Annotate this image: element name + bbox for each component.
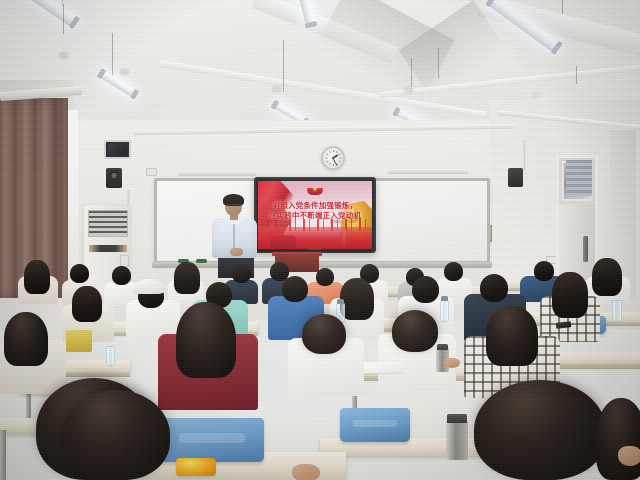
slide-title-line1: 对照入党条件加强锻炼， [266,201,364,211]
lamp-wire [562,0,563,14]
student-hand [618,446,640,466]
lamp-wire [63,4,64,34]
student-hair [174,262,200,294]
lamp-wire [283,40,284,92]
wall-speaker-left [106,168,122,188]
lamp-mount [532,92,541,98]
student-hair [552,272,588,318]
water-bottle[interactable] [612,300,622,322]
student-hand [444,358,460,368]
student-head [70,264,89,283]
tower-graphic [342,229,346,247]
student-hair [486,306,538,366]
monitor-screen [108,144,127,155]
student-hair [24,260,50,294]
clock-center-pin [332,157,334,159]
conduit-pipe [523,140,526,170]
lamp-mount [59,52,68,58]
wall-speaker-right [508,168,523,187]
lamp-wire [438,48,439,78]
lamp-wire [112,33,113,75]
speaker-grille-icon [109,170,119,186]
bottle-cap [337,299,344,304]
notebook-paper[interactable] [364,361,402,373]
student-head [232,264,251,283]
student-head [316,268,334,286]
presenter-hands [230,248,243,256]
student-hair [340,278,374,320]
presenter [206,196,264,276]
student-head [444,262,463,281]
student-head [412,276,439,303]
lamp-mount [272,85,281,91]
lamp-wire [576,66,577,84]
ac-vent-grille [88,210,128,237]
whiteboard-lamp [178,171,256,176]
door-handle[interactable] [583,236,588,262]
presentation-display[interactable]: 对照入党条件加强锻炼， 在实践中不断端正入党动机 主讲人 时间地点 HUAWEI [254,177,376,253]
student-head [302,314,346,354]
student-head [534,261,554,281]
lamp-mount [404,86,413,92]
student-head [62,390,170,480]
wall-outlet[interactable] [146,168,157,176]
student-hair [4,312,48,366]
student-hair [596,398,640,480]
snack-bag[interactable] [176,458,216,476]
cpc-party-emblem-icon [307,186,323,196]
student-hair [592,258,622,296]
student-hand [292,464,320,480]
ac-brand-strip [89,245,127,252]
door-transom-window [566,160,592,196]
cap-brim [132,290,154,294]
water-bottle[interactable] [106,346,115,366]
water-bottle[interactable] [440,300,449,322]
desk-leg [0,430,6,480]
chair[interactable] [340,408,410,442]
wall-clock [321,146,345,170]
slide-title: 对照入党条件加强锻炼， 在实践中不断端正入党动机 [266,201,364,221]
student-hair [72,286,102,322]
thermos-lid [447,414,467,423]
student-head [112,266,131,285]
thermos-lid [437,344,448,350]
glasses-icon [226,204,241,208]
whiteboard-lamp [388,169,468,174]
yellow-tote-bag[interactable] [66,330,92,352]
wall-control-monitor[interactable] [104,140,131,159]
student-head [474,380,606,480]
student-head [480,274,508,302]
classroom-photo: 对照入党条件加强锻炼， 在实践中不断端正入党动机 主讲人 时间地点 HUAWEI [0,0,640,480]
student-hair [176,302,236,378]
lamp-mount [120,68,129,74]
chair[interactable] [160,418,264,462]
display-brand-logo: HUAWEI [309,248,322,251]
student-head [282,276,308,302]
thermos-flask[interactable] [446,420,468,460]
bottle-cap [441,296,448,301]
presentation-slide: 对照入党条件加强锻炼， 在实践中不断端正入党动机 主讲人 时间地点 [258,181,372,249]
student-head [392,310,438,352]
